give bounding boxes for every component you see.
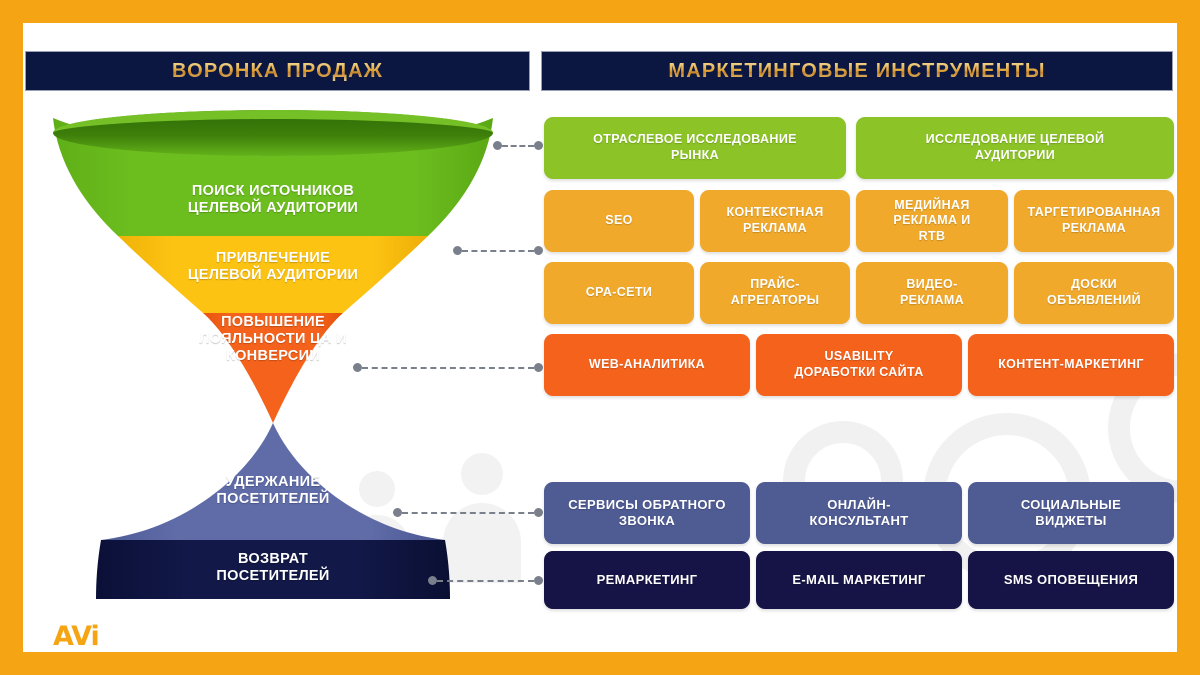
funnel-dome-slate (101, 423, 445, 540)
connector-dot-end (534, 246, 543, 255)
connector-dot-start (353, 363, 362, 372)
infographic-slide: ВОРОНКА ПРОДАЖ МАРКЕТИНГОВЫЕ ИНСТРУМЕНТЫ (0, 0, 1200, 675)
tool-box-social-widgets[interactable]: СОЦИАЛЬНЫЕ ВИДЖЕТЫ (968, 482, 1174, 544)
connector-dash (402, 512, 534, 514)
tool-box-context-ads[interactable]: КОНТЕКСТНАЯ РЕКЛАМА (700, 190, 850, 252)
connector-dash (362, 367, 534, 369)
tool-box-targeted-ads[interactable]: ТАРГЕТИРОВАННАЯ РЕКЛАМА (1014, 190, 1174, 252)
logo-wordmark: [group] (53, 651, 163, 652)
tool-box-classified-boards[interactable]: ДОСКИ ОБЪЯВЛЕНИЙ (1014, 262, 1174, 324)
tool-box-online-consultant[interactable]: ОНЛАЙН- КОНСУЛЬТАНТ (756, 482, 962, 544)
connector-stage-3 (353, 363, 543, 372)
tool-box-callback-services[interactable]: СЕРВИСЫ ОБРАТНОГО ЗВОНКА (544, 482, 750, 544)
connector-dash (462, 250, 534, 252)
avi-group-logo[interactable]: AVi [group] (53, 623, 163, 652)
funnel-band-orange (203, 313, 343, 423)
connector-dot-start (493, 141, 502, 150)
slide-canvas: ВОРОНКА ПРОДАЖ МАРКЕТИНГОВЫЕ ИНСТРУМЕНТЫ (23, 23, 1177, 652)
connector-dot-start (453, 246, 462, 255)
tool-box-cpa-networks[interactable]: CPA-СЕТИ (544, 262, 694, 324)
tool-box-video-ads[interactable]: ВИДЕО- РЕКЛАМА (856, 262, 1008, 324)
tool-box-usability[interactable]: USABILITY ДОРАБОТКИ САЙТА (756, 334, 962, 396)
tool-box-remarketing[interactable]: РЕМАРКЕТИНГ (544, 551, 750, 609)
tool-box-seo[interactable]: SEO (544, 190, 694, 252)
tool-box-web-analytics[interactable]: WEB-АНАЛИТИКА (544, 334, 750, 396)
connector-stage-1 (493, 141, 543, 150)
header-bar-right: МАРКЕТИНГОВЫЕ ИНСТРУМЕНТЫ (541, 51, 1173, 91)
connector-dash (437, 580, 534, 582)
connector-dot-start (393, 508, 402, 517)
funnel-band-yellow (118, 236, 428, 313)
tool-box-price-aggregators[interactable]: ПРАЙС- АГРЕГАТОРЫ (700, 262, 850, 324)
connector-dot-end (534, 141, 543, 150)
header-title-right: МАРКЕТИНГОВЫЕ ИНСТРУМЕНТЫ (668, 60, 1045, 83)
tool-box-industry-research[interactable]: ОТРАСЛЕВОЕ ИССЛЕДОВАНИЕ РЫНКА (544, 117, 846, 179)
tool-box-sms-notifications[interactable]: SMS ОПОВЕЩЕНИЯ (968, 551, 1174, 609)
tool-box-content-marketing[interactable]: КОНТЕНТ-МАРКЕТИНГ (968, 334, 1174, 396)
tool-box-email-marketing[interactable]: E-MAIL МАРКЕТИНГ (756, 551, 962, 609)
connector-stage-5 (428, 576, 543, 585)
sales-funnel-graphic (23, 23, 543, 633)
connector-dot-start (428, 576, 437, 585)
funnel-dome-navy (96, 540, 450, 599)
connector-dot-end (534, 363, 543, 372)
connector-stage-2 (453, 246, 543, 255)
tool-box-audience-research[interactable]: ИССЛЕДОВАНИЕ ЦЕЛЕВОЙ АУДИТОРИИ (856, 117, 1174, 179)
connector-stage-4 (393, 508, 543, 517)
logo-mark: AVi (53, 623, 163, 650)
connector-dot-end (534, 508, 543, 517)
tool-box-display-ads-rtb[interactable]: МЕДИЙНАЯ РЕКЛАМА И RTB (856, 190, 1008, 252)
connector-dash (502, 145, 534, 147)
connector-dot-end (534, 576, 543, 585)
